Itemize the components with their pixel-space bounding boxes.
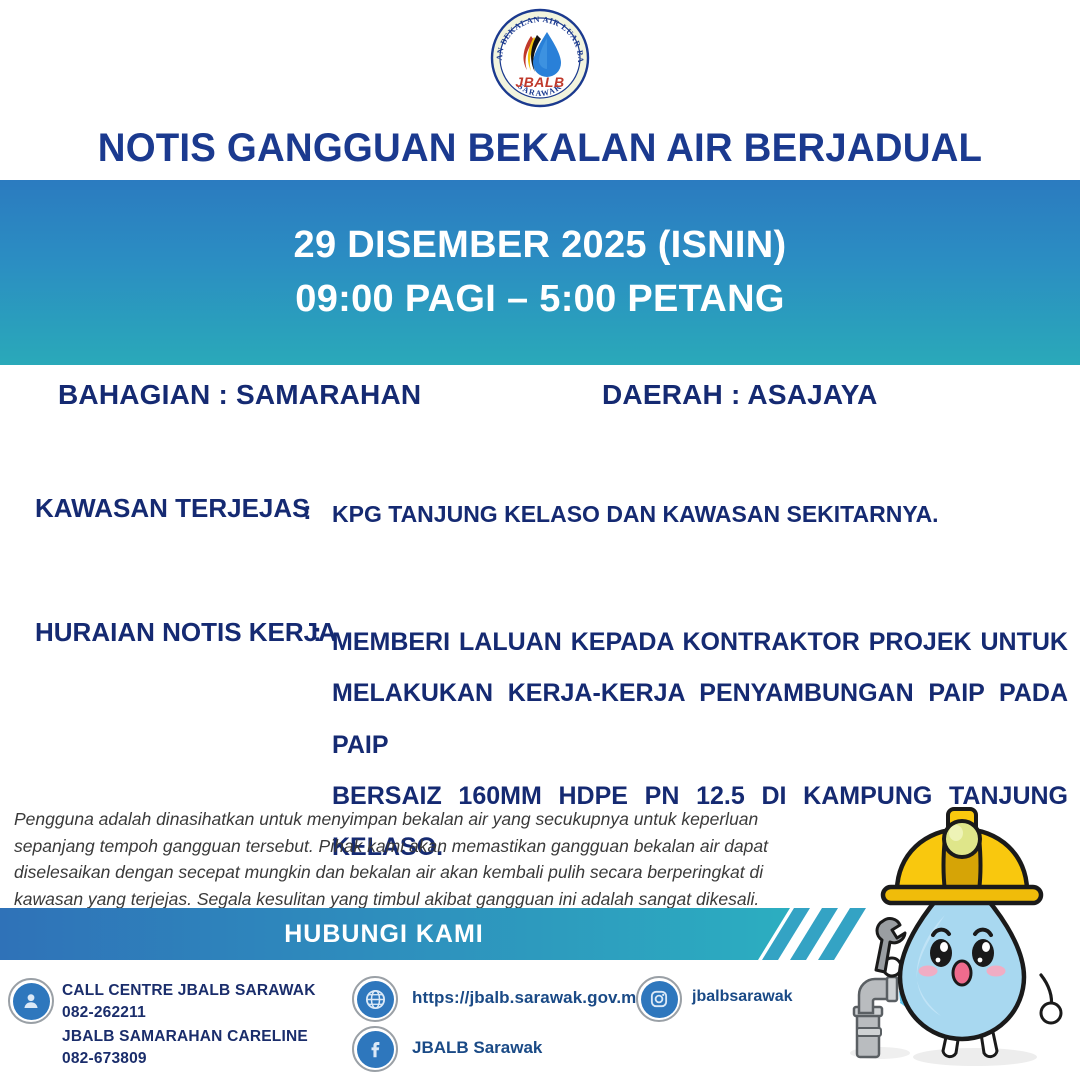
call-centre-name: CALL CENTRE JBALB SARAWAK (62, 980, 316, 1002)
person-icon (8, 978, 54, 1024)
instagram-icon-wrap[interactable] (636, 976, 682, 1022)
notice-time: 09:00 PAGI – 5:00 PETANG (295, 273, 784, 327)
website-icon-wrap[interactable] (352, 976, 398, 1022)
careline-block: JBALB SAMARAHAN CARELINE 082-673809 (62, 1026, 308, 1071)
bahagian-label: BAHAGIAN : SAMARAHAN (58, 379, 421, 411)
facebook-handle[interactable]: JBALB Sarawak (412, 1038, 542, 1058)
globe-icon[interactable] (352, 976, 398, 1022)
facebook-icon-wrap[interactable] (352, 1026, 398, 1072)
notice-date: 29 DISEMBER 2025 (ISNIN) (294, 219, 787, 273)
kawasan-terjejas-label: KAWASAN TERJEJAS (35, 493, 310, 524)
details-section: BAHAGIAN : SAMARAHAN DAERAH : ASAJAYA KA… (0, 365, 1080, 429)
jbalb-logo: JABATAN BEKALAN AIR LUAR BANDAR SARAWAK … (490, 8, 590, 108)
svg-text:JBALB: JBALB (515, 74, 564, 90)
page-title: NOTIS GANGGUAN BEKALAN AIR BERJADUAL (22, 126, 1059, 171)
website-url[interactable]: https://jbalb.sarawak.gov.my/ (412, 988, 651, 1008)
notice-poster: JABATAN BEKALAN AIR LUAR BANDAR SARAWAK … (0, 0, 1080, 1080)
facebook-icon[interactable] (352, 1026, 398, 1072)
contact-banner-label: HUBUNGI KAMI (284, 920, 484, 949)
careline-number[interactable]: 082-673809 (62, 1048, 308, 1070)
date-time-banner: 29 DISEMBER 2025 (ISNIN) 09:00 PAGI – 5:… (0, 180, 1080, 365)
huraian-notis-kerja-label: HURAIAN NOTIS KERJA (35, 617, 337, 648)
kawasan-terjejas-value: KPG TANJUNG KELASO DAN KAWASAN SEKITARNY… (332, 501, 939, 528)
hard-hat-icon (883, 809, 1041, 903)
instagram-handle[interactable]: jbalbsarawak (692, 988, 793, 1006)
phone-contact-icon-wrap (8, 978, 54, 1024)
instagram-icon[interactable] (636, 976, 682, 1022)
logo-container: JABATAN BEKALAN AIR LUAR BANDAR SARAWAK … (0, 8, 1080, 112)
careline-name: JBALB SAMARAHAN CARELINE (62, 1026, 308, 1048)
call-centre-block: CALL CENTRE JBALB SARAWAK 082-262211 (62, 980, 316, 1025)
division-district-row: BAHAGIAN : SAMARAHAN DAERAH : ASAJAYA (0, 365, 1080, 429)
daerah-label: DAERAH : ASAJAYA (602, 379, 878, 411)
huraian-colon: : (313, 617, 322, 648)
advisory-note: Pengguna adalah dinasihatkan untuk menyi… (14, 806, 804, 912)
kawasan-colon: : (303, 495, 312, 526)
water-drop-worker-mascot (845, 795, 1080, 1080)
huraian-paragraph-1: MEMBERI LALUAN KEPADA KONTRAKTOR PROJEK … (332, 628, 1068, 759)
contact-banner-body: HUBUNGI KAMI (0, 908, 790, 960)
call-centre-number[interactable]: 082-262211 (62, 1002, 316, 1024)
